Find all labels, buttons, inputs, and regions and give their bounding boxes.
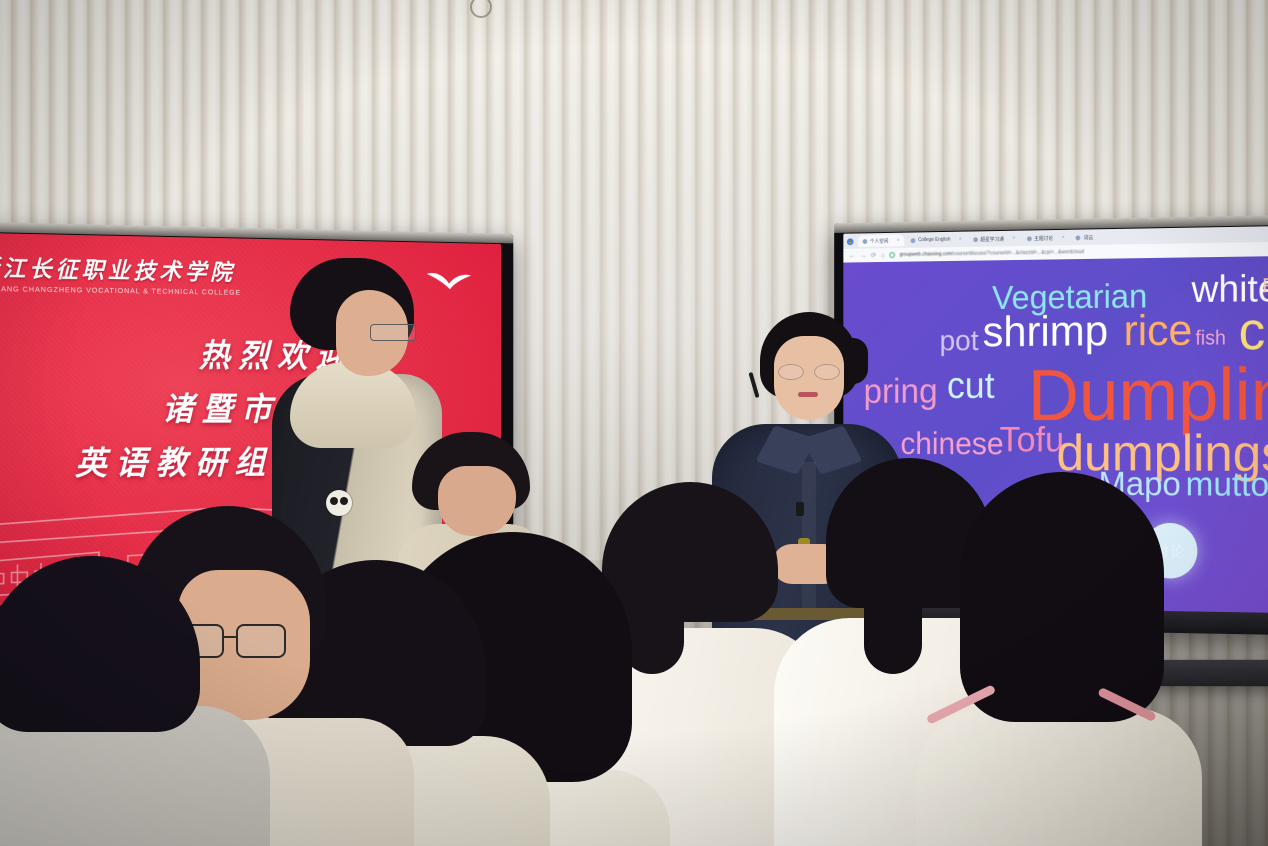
classroom-photo: 浙江长征职业技术学院 ZHEJIANG CHANGZHENG VOCATIONA… <box>0 0 1268 846</box>
word-cloud-term[interactable]: pot <box>940 327 979 356</box>
tab-close-icon[interactable]: × <box>897 238 900 244</box>
word-cloud-term[interactable]: cut <box>947 368 995 405</box>
word-cloud-term[interactable]: Ro <box>1262 276 1268 296</box>
word-cloud-term[interactable]: shrimp <box>983 310 1109 354</box>
tab-favicon-icon <box>1076 235 1081 240</box>
tab-label: College English <box>918 237 950 243</box>
teacher-lips <box>798 392 818 397</box>
address-input[interactable]: groupweb.chaoxing.com/course/discuss/?co… <box>900 249 1084 258</box>
tab-close-icon[interactable]: × <box>1012 236 1015 242</box>
tab-favicon-icon <box>1027 236 1032 241</box>
home-icon[interactable]: ⌂ <box>881 252 885 259</box>
seated-student <box>920 472 1190 846</box>
word-cloud-term[interactable]: rice <box>1124 309 1193 353</box>
tab-close-icon[interactable]: × <box>959 237 962 243</box>
word-cloud-term[interactable]: Tofu <box>1000 422 1065 457</box>
word-cloud-term[interactable]: mutton <box>1186 468 1268 502</box>
word-cloud-term[interactable]: fish <box>1195 329 1225 349</box>
tab-favicon-icon <box>863 239 868 244</box>
browser-tab[interactable]: 个人空间 × <box>858 235 904 247</box>
forward-icon[interactable]: → <box>860 252 866 259</box>
tab-close-icon[interactable]: × <box>1062 235 1065 241</box>
tab-label: 超星学习通 <box>980 235 1004 242</box>
browser-tab[interactable]: 超星学习通 × <box>968 233 1020 246</box>
eyeglasses-icon <box>778 364 840 380</box>
browser-logo-icon <box>847 238 853 245</box>
jacket-hood <box>290 362 416 448</box>
college-logo: 浙江长征职业技术学院 ZHEJIANG CHANGZHENG VOCATIONA… <box>0 249 241 297</box>
student-hair <box>0 556 200 732</box>
browser-tab[interactable]: 主题讨论 × <box>1022 232 1069 245</box>
headset-mic-icon <box>748 372 759 398</box>
url-host: groupweb.chaoxing.com <box>900 251 952 258</box>
browser-tab[interactable]: 词云 <box>1071 231 1098 243</box>
college-logo-cn: 浙江长征职业技术学院 <box>0 249 241 287</box>
tab-label: 词云 <box>1084 234 1094 241</box>
url-path: /course/discuss/?courseId=...&clazzid=..… <box>952 249 1084 257</box>
tab-favicon-icon <box>973 237 978 242</box>
student-shirt <box>916 708 1202 846</box>
word-cloud-term[interactable]: chinese <box>900 428 1003 459</box>
eyeglasses-icon <box>370 324 416 341</box>
tab-favicon-icon <box>911 238 916 243</box>
lock-icon <box>889 252 895 258</box>
tab-label: 主题讨论 <box>1034 234 1053 241</box>
tab-label: 个人空间 <box>870 237 888 244</box>
foreground-student <box>0 556 270 846</box>
reload-icon[interactable]: ⟳ <box>871 251 876 259</box>
browser-tab[interactable]: College English × <box>906 234 966 247</box>
back-icon[interactable]: ← <box>849 252 855 259</box>
word-cloud-term[interactable]: ch <box>1239 304 1268 358</box>
